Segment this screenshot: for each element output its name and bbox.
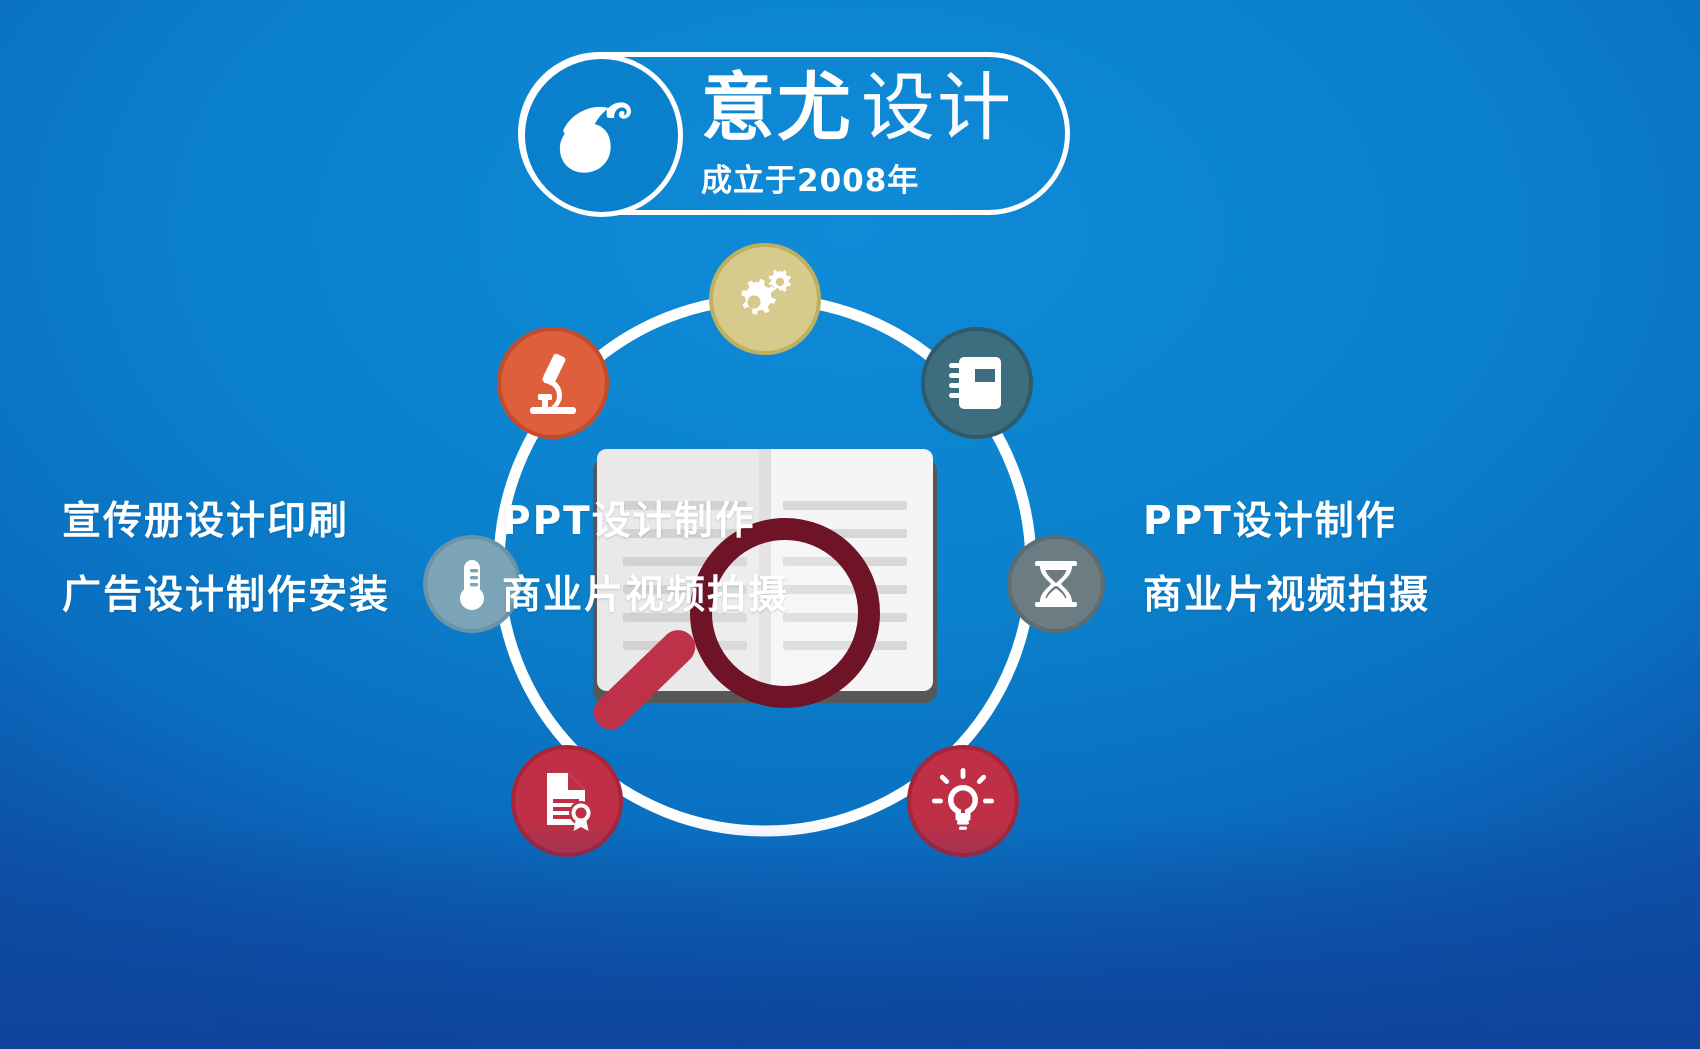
service-text-left-line1: 宣传册设计印刷	[62, 485, 390, 559]
gears-icon	[728, 262, 802, 336]
hourglass-icon	[1027, 555, 1085, 613]
thermometer-icon	[444, 556, 500, 612]
node-gears[interactable]	[709, 243, 821, 355]
node-microscope[interactable]	[497, 327, 609, 439]
notebook-icon	[945, 351, 1009, 415]
service-text-left: 宣传册设计印刷 广告设计制作安装	[62, 485, 390, 633]
service-text-right: PPT设计制作 商业片视频拍摄	[1143, 485, 1430, 633]
service-text-middle-line1: PPT设计制作	[502, 485, 789, 559]
brand-name-light: 设计	[861, 71, 1013, 145]
bird-leaf-logo-icon	[520, 54, 683, 217]
microscope-icon	[518, 348, 588, 418]
service-text-right-line2: 商业片视频拍摄	[1143, 559, 1430, 633]
service-text-left-line2: 广告设计制作安装	[62, 559, 390, 633]
slide-canvas: 意尤 设计 成立于2008年	[0, 0, 1700, 1049]
service-text-middle-line2: 商业片视频拍摄	[502, 559, 789, 633]
node-hourglass[interactable]	[1007, 535, 1105, 633]
brand-logo-text: 意尤 设计 成立于2008年	[701, 67, 1013, 200]
brand-logo: 意尤 设计 成立于2008年	[518, 52, 1070, 215]
brand-name-strong: 意尤	[701, 71, 853, 145]
brand-tagline: 成立于2008年	[701, 155, 1013, 200]
node-notebook[interactable]	[921, 327, 1033, 439]
service-text-right-line1: PPT设计制作	[1143, 485, 1430, 559]
service-text-middle: PPT设计制作 商业片视频拍摄	[502, 485, 789, 633]
